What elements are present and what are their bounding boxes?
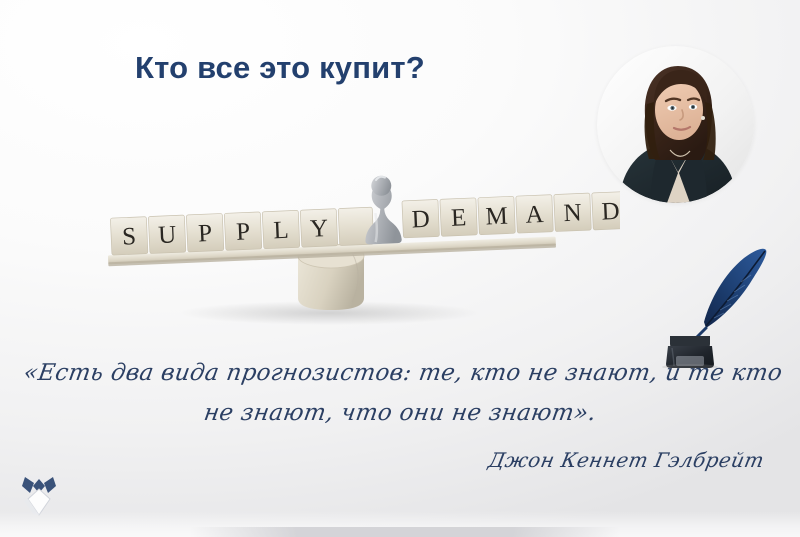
quote-line-2: не знают, что они не знают». (0, 400, 800, 426)
demand-blocks: D E M A N (402, 190, 620, 238)
svg-text:D: D (411, 206, 430, 234)
svg-text:Y: Y (309, 215, 328, 243)
slide-canvas: Кто все это купит? (0, 0, 800, 537)
svg-text:P: P (198, 220, 213, 248)
portrait-photo-woman-icon (597, 46, 754, 203)
svg-text:N: N (563, 199, 582, 227)
svg-text:S: S (122, 223, 137, 251)
svg-text:D: D (601, 198, 620, 226)
quote-block: «Есть два вида прогнозистов: те, кто не … (0, 360, 800, 472)
svg-text:U: U (158, 221, 177, 249)
quote-line-1: «Есть два вида прогнозистов: те, кто не … (0, 360, 800, 386)
quote-attribution: Джон Кеннет Гэлбрейт (0, 448, 800, 472)
svg-text:M: M (485, 203, 508, 231)
svg-text:E: E (450, 204, 466, 232)
avatar (597, 46, 754, 203)
balance-scale-wooden-blocks: S U P P L (60, 160, 620, 340)
svg-text:A: A (525, 201, 544, 229)
page-title: Кто все это купит? (0, 50, 560, 86)
svg-text:L: L (273, 217, 289, 245)
svg-text:P: P (236, 218, 251, 246)
bottom-accent-strip (190, 527, 620, 537)
quill-pen-inkwell-icon (648, 238, 780, 368)
